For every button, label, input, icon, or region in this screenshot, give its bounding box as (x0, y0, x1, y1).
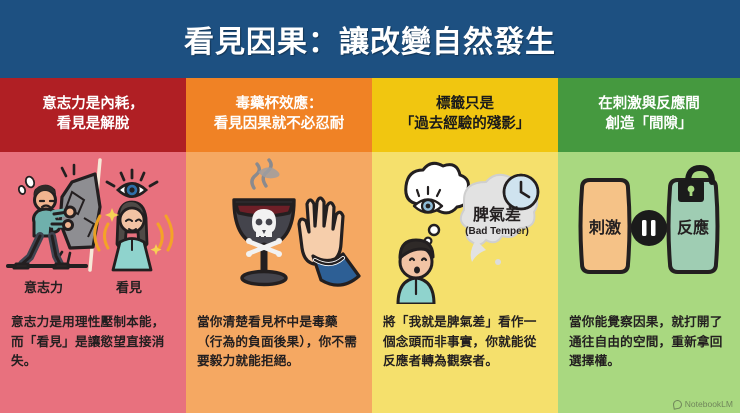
illustration-label-willpower: 意志力 (24, 277, 63, 296)
column-body-2: 當你清楚看見杯中是毒藥（行為的負面後果），你不需要毅力就能拒絕。 (186, 152, 372, 413)
page-title: 看見因果：讓改變自然發生 (184, 17, 556, 61)
column-container: 意志力是內耗， 看見是解脫 (0, 78, 740, 413)
column-header-label-2: 毒藥杯效應： 看見因果就不必忍耐 (200, 95, 359, 134)
svg-text:脾氣差: 脾氣差 (473, 205, 521, 224)
notebooklm-logo-icon (672, 399, 682, 409)
column-header-label-4: 在刺激與反應間 創造「間隙」 (584, 95, 714, 134)
column-willpower: 意志力是內耗， 看見是解脫 (0, 78, 186, 413)
column-caption-2: 當你清楚看見杯中是毒藥（行為的負面後果），你不需要毅力就能拒絕。 (186, 304, 372, 413)
column-label-residue: 標籤只是 「過去經驗的殘影」 (372, 78, 558, 413)
illustration-poison-goblet (186, 152, 372, 304)
infographic-root: 看見因果：讓改變自然發生 意志力是內耗， 看見是解脫 (0, 0, 740, 413)
svg-text:反應: 反應 (677, 218, 709, 237)
column-header-1: 意志力是內耗， 看見是解脫 (0, 78, 186, 152)
svg-text:(Bad Temper): (Bad Temper) (465, 226, 529, 237)
illustration-label-thought: 脾氣差 (Bad Temper) (372, 152, 558, 304)
illustration-stimulus-pause-response: 刺激 反應 (558, 152, 740, 304)
title-bar: 看見因果：讓改變自然發生 (0, 0, 740, 78)
notebooklm-watermark: NotebookLM (673, 399, 733, 409)
column-body-1: 意志力 看見 意志力是用理性壓制本能，而「看見」是讓慾望直接消失。 (0, 152, 186, 413)
svg-text:刺激: 刺激 (588, 218, 621, 237)
column-header-3: 標籤只是 「過去經驗的殘影」 (372, 78, 558, 152)
notebooklm-watermark-label: NotebookLM (685, 399, 733, 409)
column-poison-cup: 毒藥杯效應： 看見因果就不必忍耐 (186, 78, 372, 413)
column-caption-1: 意志力是用理性壓制本能，而「看見」是讓慾望直接消失。 (0, 304, 186, 413)
column-body-3: 脾氣差 (Bad Temper) 將「我就是脾氣差」看作一個念 (372, 152, 558, 413)
column-header-label-3: 標籤只是 「過去經驗的殘影」 (386, 95, 545, 134)
column-caption-3: 將「我就是脾氣差」看作一個念頭而非事實，你就能從反應者轉為觀察者。 (372, 304, 558, 413)
column-caption-4: 當你能覺察因果，就打開了通往自由的空間，重新拿回選擇權。 (558, 304, 740, 413)
column-header-4: 在刺激與反應間 創造「間隙」 (558, 78, 740, 152)
column-header-2: 毒藥杯效應： 看見因果就不必忍耐 (186, 78, 372, 152)
illustration-willpower-vs-seeing: 意志力 看見 (0, 152, 186, 304)
column-body-4: 刺激 反應 (558, 152, 740, 413)
column-header-label-1: 意志力是內耗， 看見是解脫 (28, 95, 158, 134)
illustration-label-seeing: 看見 (116, 277, 142, 296)
column-stimulus-response-gap: 在刺激與反應間 創造「間隙」 刺激 反應 (558, 78, 740, 413)
